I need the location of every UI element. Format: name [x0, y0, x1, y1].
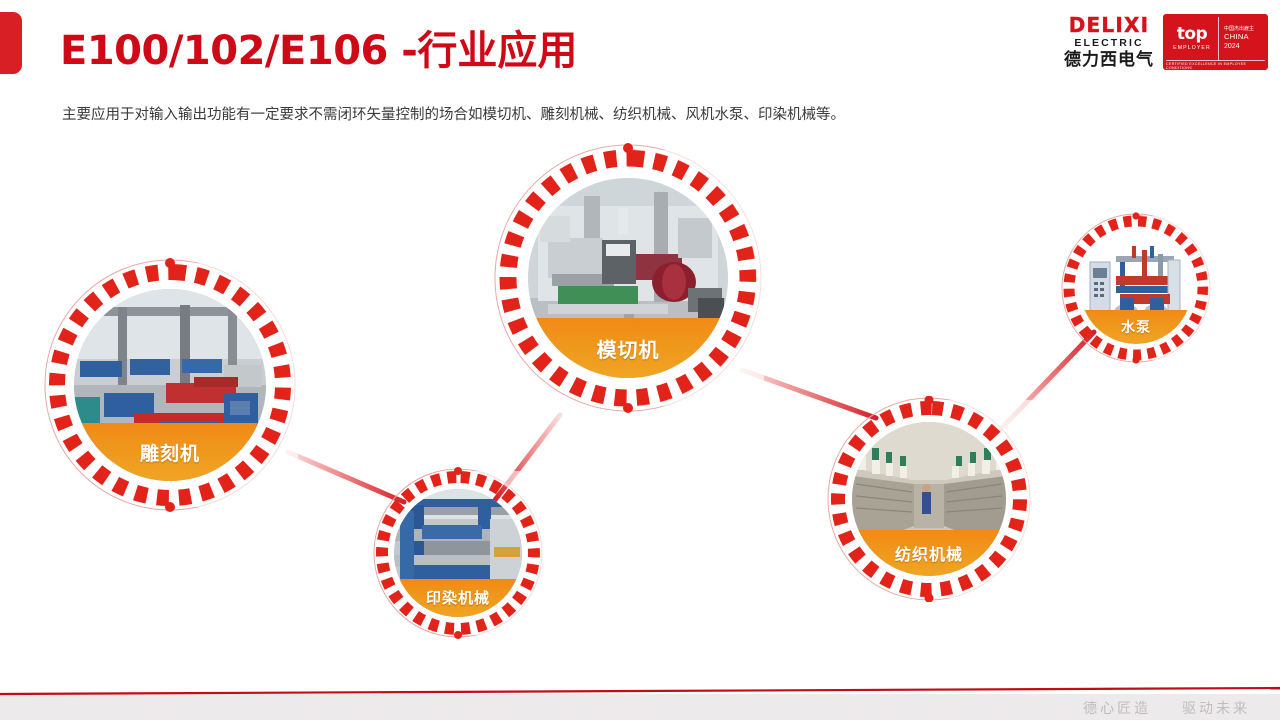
ring-dot-top	[165, 258, 175, 268]
caption-water-pump: 水泵	[1080, 310, 1192, 344]
page-subtitle: 主要应用于对输入输出功能有一定要求不需闭环矢量控制的场合如模切机、雕刻机械、纺织…	[62, 103, 845, 124]
delixi-logo: DELIXI ELECTRIC 德力西电气	[1064, 15, 1154, 69]
page-title: E100/102/E106 -行业应用	[60, 18, 577, 76]
caption-label-printing-dyeing: 印染机械	[426, 587, 490, 608]
top-employer-body: top EMPLOYER 中国杰出雇主 CHINA 2024	[1166, 17, 1265, 60]
brand-logos: DELIXI ELECTRIC 德力西电气 top EMPLOYER 中国杰出雇…	[1064, 14, 1268, 70]
ring-dot-bottom	[454, 631, 462, 639]
delixi-subtitle: ELECTRIC	[1074, 38, 1143, 49]
page-title-model: E100/102/E106 -	[60, 28, 417, 74]
footer-slogan: 德心匠造 驱动未来	[1083, 698, 1250, 718]
node-water-pump[interactable]: 水泵	[1060, 212, 1212, 364]
caption-label-textile: 纺织机械	[895, 541, 963, 565]
footer-slogan-left: 德心匠造	[1083, 701, 1151, 717]
ring-dot-top	[454, 467, 462, 475]
caption-printing-dyeing: 印染机械	[394, 579, 522, 617]
page-title-topic: 行业应用	[417, 28, 577, 74]
ring-dot-bottom	[1132, 356, 1139, 363]
caption-label-water-pump: 水泵	[1121, 317, 1151, 337]
footer-slogan-right: 驱动未来	[1182, 701, 1250, 717]
top-employer-country: CHINA	[1224, 32, 1265, 42]
node-printing-dyeing[interactable]: 印染机械	[372, 467, 544, 639]
caption-label-die-cutting: 模切机	[597, 334, 660, 363]
die-cutting-machine-photo: 模切机	[528, 178, 728, 378]
top-employer-badge: top EMPLOYER 中国杰出雇主 CHINA 2024 CERTIFIED…	[1163, 14, 1268, 70]
top-employer-employer-text: EMPLOYER	[1173, 45, 1211, 51]
ring-dot-bottom	[623, 403, 633, 413]
ring-dot-top	[623, 143, 633, 153]
node-textile[interactable]: 纺织机械	[826, 396, 1032, 602]
engraving-workshop-photo: 雕刻机	[74, 289, 266, 481]
slide-canvas: E100/102/E106 -行业应用 主要应用于对输入输出功能有一定要求不需闭…	[0, 0, 1280, 720]
node-engraving[interactable]: 雕刻机	[42, 257, 298, 513]
node-die-cutting[interactable]: 模切机	[492, 142, 764, 414]
top-employer-details: 中国杰出雇主 CHINA 2024	[1219, 17, 1265, 60]
caption-die-cutting: 模切机	[528, 318, 728, 378]
top-employer-year: 2024	[1224, 42, 1265, 51]
caption-label-engraving: 雕刻机	[140, 439, 200, 466]
footer-rule	[0, 686, 1280, 696]
water-pump-unit-photo: 水泵	[1080, 232, 1192, 344]
ring-dot-bottom	[165, 502, 175, 512]
left-accent-tab	[0, 12, 22, 74]
printing-dyeing-machine-photo: 印染机械	[394, 489, 522, 617]
caption-textile: 纺织机械	[852, 530, 1006, 576]
top-employer-mark: top EMPLOYER	[1166, 17, 1219, 60]
delixi-wordmark: DELIXI	[1069, 15, 1150, 35]
delixi-chinese-name: 德力西电气	[1064, 52, 1154, 69]
caption-engraving: 雕刻机	[74, 423, 266, 481]
top-employer-top-text: top	[1177, 26, 1207, 43]
textile-mill-photo: 纺织机械	[852, 422, 1006, 576]
ring-dot-top	[1132, 212, 1139, 219]
top-employer-certified-text: CERTIFIED EXCELLENCE IN EMPLOYEE CONDITI…	[1166, 60, 1265, 70]
